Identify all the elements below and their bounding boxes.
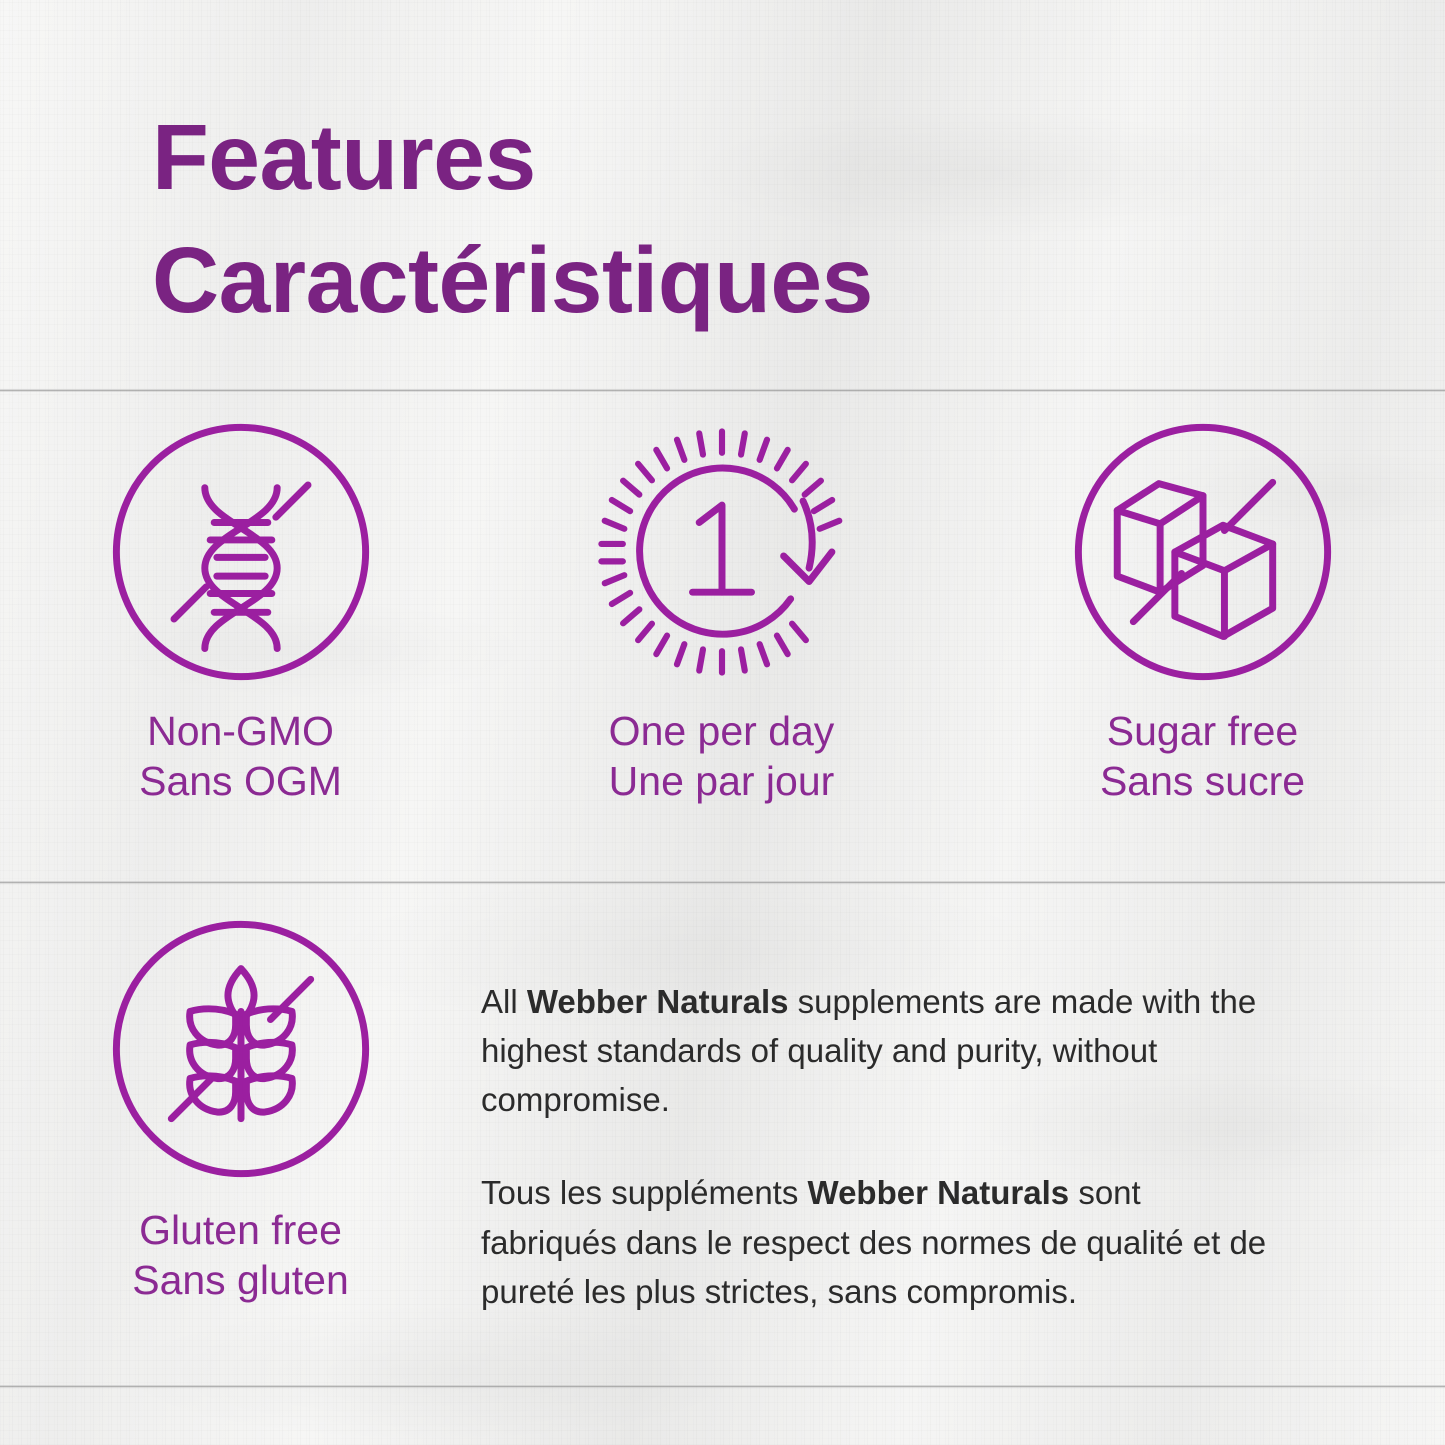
para-en-before: All <box>481 983 527 1020</box>
plank-seam-divider <box>0 881 1445 884</box>
no-sugar-cubes-icon <box>1069 418 1337 686</box>
one-per-day-icon <box>588 418 856 686</box>
feature-label-english: Sugar free <box>1100 706 1305 756</box>
feature-graphic-page: Features Caractéristiques <box>0 0 1445 1445</box>
feature-row-top: Non-GMO Sans OGM <box>0 418 1445 807</box>
feature-label-gluten-free: Gluten free Sans gluten <box>132 1205 349 1306</box>
feature-label-french: Sans gluten <box>132 1255 349 1305</box>
feature-item-non-gmo: Non-GMO Sans OGM <box>0 418 481 807</box>
page-title-french: Caractéristiques <box>152 219 873 342</box>
page-title: Features Caractéristiques <box>152 96 873 342</box>
body-paragraph-english: All Webber Naturals supplements are made… <box>481 977 1281 1124</box>
feature-row-bottom: Gluten free Sans gluten All Webber Natur… <box>0 915 1445 1316</box>
feature-label-one-per-day: One per day Une par jour <box>609 706 835 807</box>
feature-item-sugar-free: Sugar free Sans sucre <box>962 418 1443 807</box>
page-title-english: Features <box>152 96 873 219</box>
feature-item-one-per-day: One per day Une par jour <box>481 418 962 807</box>
body-paragraph-french: Tous les suppléments Webber Naturals son… <box>481 1168 1281 1315</box>
body-copy: All Webber Naturals supplements are made… <box>481 915 1281 1316</box>
feature-label-french: Sans OGM <box>139 756 342 806</box>
feature-label-french: Sans sucre <box>1100 756 1305 806</box>
feature-item-gluten-free: Gluten free Sans gluten <box>0 915 481 1306</box>
plank-seam-divider <box>0 1385 1445 1388</box>
no-gluten-wheat-icon <box>107 915 375 1183</box>
feature-label-french: Une par jour <box>609 756 835 806</box>
feature-label-english: Non-GMO <box>139 706 342 756</box>
para-fr-before: Tous les suppléments <box>481 1174 808 1211</box>
plank-seam-divider <box>0 389 1445 392</box>
feature-label-english: One per day <box>609 706 835 756</box>
brand-name-french: Webber Naturals <box>808 1174 1070 1211</box>
no-gmo-dna-icon <box>107 418 375 686</box>
brand-name-english: Webber Naturals <box>527 983 789 1020</box>
feature-label-english: Gluten free <box>132 1205 349 1255</box>
feature-label-non-gmo: Non-GMO Sans OGM <box>139 706 342 807</box>
feature-label-sugar-free: Sugar free Sans sucre <box>1100 706 1305 807</box>
